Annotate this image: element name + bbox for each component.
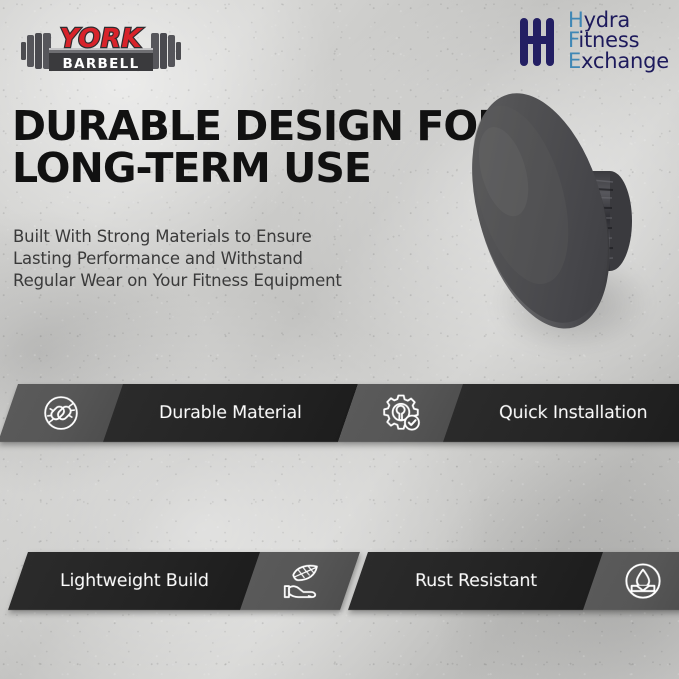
badge-label: Rust Resistant	[415, 571, 537, 591]
hfe-line-exchange: Exchange	[568, 51, 669, 71]
feature-badge-rust-resistant[interactable]: Rust Resistant	[348, 552, 679, 610]
product-photo	[455, 78, 670, 348]
subheadline: Built With Strong Materials to Ensure La…	[13, 226, 343, 292]
hfe-monogram-icon	[517, 12, 563, 70]
product-marketing-image: YORK BARBELL Hydra Fitness Exchange DURA…	[0, 0, 679, 679]
end-cap-plug-icon	[455, 78, 670, 348]
badge-icon-panel	[0, 384, 123, 442]
badge-text-panel: Rust Resistant	[348, 552, 603, 610]
hand-feather-icon	[278, 561, 322, 601]
badge-text-panel: Quick Installation	[443, 384, 679, 442]
hfe-initial-e: E	[568, 49, 581, 73]
badge-text-panel: Lightweight Build	[8, 552, 260, 610]
hfe-wordmark: Hydra Fitness Exchange	[568, 10, 669, 71]
badge-label: Quick Installation	[499, 403, 647, 423]
barbell-icon: YORK BARBELL	[19, 22, 183, 80]
feature-badge-durable-material[interactable]: Durable Material	[0, 384, 358, 442]
headline: DURABLE DESIGN FOR LONG-TERM USE	[12, 106, 512, 190]
barbell-wordmark: BARBELL	[63, 56, 140, 72]
york-wordmark: YORK	[60, 24, 144, 54]
feature-badge-quick-installation[interactable]: Quick Installation	[338, 384, 679, 442]
badge-icon-panel	[338, 384, 463, 442]
hydra-fitness-exchange-logo: Hydra Fitness Exchange	[517, 10, 669, 71]
water-drop-surface-icon	[622, 560, 664, 602]
badge-icon-panel	[240, 552, 360, 610]
feature-badge-lightweight-build[interactable]: Lightweight Build	[8, 552, 360, 610]
gear-wrench-check-icon	[380, 392, 422, 434]
hfe-line-fitness: Fitness	[568, 30, 669, 50]
badge-label: Durable Material	[159, 403, 302, 423]
unbreakable-chain-link-icon	[41, 393, 81, 433]
hfe-rest-exchange: xchange	[581, 49, 669, 73]
hfe-line-hydra: Hydra	[568, 10, 669, 30]
badge-label: Lightweight Build	[60, 571, 209, 591]
badge-text-panel: Durable Material	[103, 384, 358, 442]
york-barbell-logo: YORK BARBELL	[19, 22, 183, 80]
